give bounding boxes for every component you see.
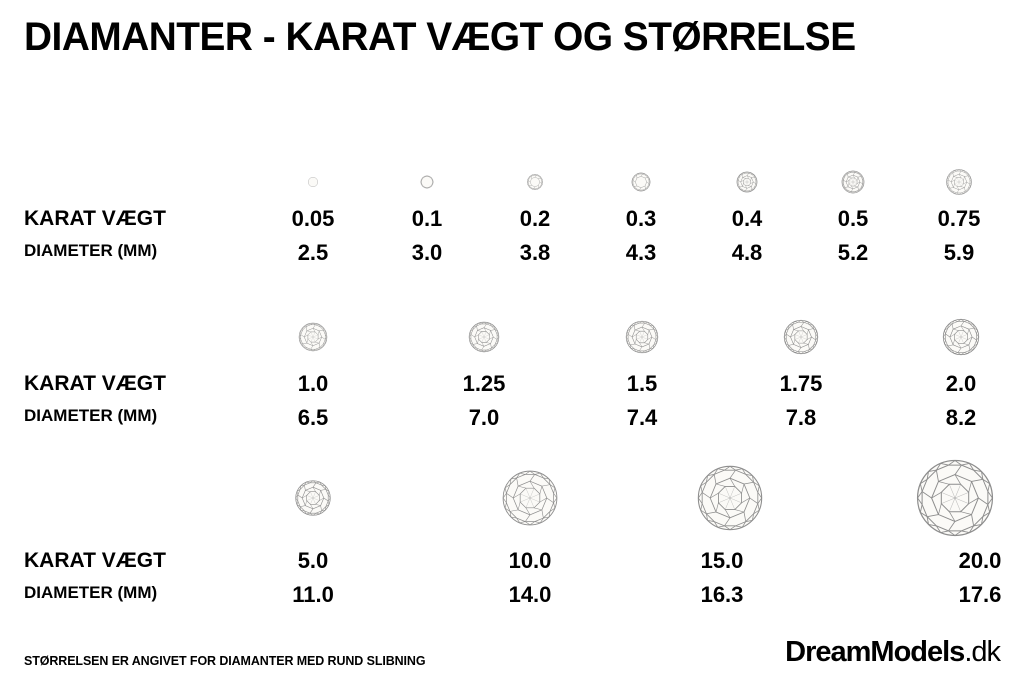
row-label-group: KARAT VÆGT DIAMETER (MM) (24, 550, 166, 601)
diameter-value: 7.0 (463, 407, 506, 429)
value-column: 1.257.0 (463, 373, 506, 429)
karat-weight-value: 0.75 (938, 208, 981, 230)
diamond-icon (946, 169, 972, 195)
row-label-group: KARAT VÆGT DIAMETER (MM) (24, 373, 166, 424)
diameter-value: 7.4 (627, 407, 658, 429)
diamond-icon (632, 173, 651, 192)
diameter-value: 5.9 (938, 242, 981, 264)
karat-weight-value: 0.1 (412, 208, 443, 230)
karat-weight-label: KARAT VÆGT (24, 208, 166, 229)
diamond-icon (626, 321, 659, 354)
karat-weight-value: 5.0 (292, 550, 334, 572)
diameter-value: 16.3 (701, 584, 744, 606)
diameter-value: 17.6 (959, 584, 1002, 606)
diamond-icon (527, 174, 543, 190)
karat-weight-value: 20.0 (959, 550, 1002, 572)
value-column: 2.08.2 (946, 373, 977, 429)
diamond-icon (697, 465, 763, 531)
value-column: 20.017.6 (959, 550, 1002, 606)
diameter-label: DIAMETER (MM) (24, 584, 166, 601)
karat-weight-value: 0.4 (732, 208, 763, 230)
brand-logo: DreamModels.dk (785, 638, 1000, 667)
diameter-label: DIAMETER (MM) (24, 242, 166, 259)
size-row-group-2: KARAT VÆGT DIAMETER (MM) 1.06.51.257.01.… (0, 305, 1024, 430)
karat-weight-value: 1.25 (463, 373, 506, 395)
diameter-value: 3.0 (412, 242, 443, 264)
diameter-value: 11.0 (292, 584, 334, 606)
page-title: DIAMANTER - KARAT VÆGT OG STØRRELSE (24, 16, 856, 58)
value-column: 0.55.2 (838, 208, 869, 264)
diamond-icon (299, 323, 328, 352)
karat-weight-value: 0.3 (626, 208, 657, 230)
footnote: STØRRELSEN ER ANGIVET FOR DIAMANTER MED … (24, 653, 425, 668)
diamond-icon (295, 480, 331, 516)
diameter-value: 6.5 (298, 407, 329, 429)
brand-tld: .dk (964, 636, 1000, 668)
karat-weight-value: 10.0 (509, 550, 552, 572)
karat-weight-label: KARAT VÆGT (24, 373, 166, 394)
diameter-value: 3.8 (520, 242, 551, 264)
karat-weight-value: 1.5 (627, 373, 658, 395)
karat-weight-value: 15.0 (701, 550, 744, 572)
value-column: 0.052.5 (292, 208, 335, 264)
diamond-icon (916, 459, 994, 537)
value-column: 0.13.0 (412, 208, 443, 264)
diamond-icon (469, 322, 500, 353)
diameter-label: DIAMETER (MM) (24, 407, 166, 424)
value-column: 0.34.3 (626, 208, 657, 264)
diameter-value: 2.5 (292, 242, 335, 264)
value-column: 10.014.0 (509, 550, 552, 606)
value-column: 0.44.8 (732, 208, 763, 264)
value-column: 1.57.4 (627, 373, 658, 429)
size-row-group-3: KARAT VÆGT DIAMETER (MM) 5.011.010.014.0… (0, 450, 1024, 610)
value-column: 1.757.8 (780, 373, 823, 429)
diamond-icon (943, 319, 980, 356)
diameter-value: 7.8 (780, 407, 823, 429)
value-column: 1.06.5 (298, 373, 329, 429)
value-column: 5.011.0 (292, 550, 334, 606)
diamond-illustration-strip (0, 160, 1024, 202)
diamond-icon (421, 176, 434, 189)
karat-weight-value: 1.75 (780, 373, 823, 395)
size-row-group-1: KARAT VÆGT DIAMETER (MM) 0.052.50.13.00.… (0, 160, 1024, 270)
diamond-illustration-strip (0, 305, 1024, 365)
value-column: 0.755.9 (938, 208, 981, 264)
diameter-value: 4.8 (732, 242, 763, 264)
diameter-value: 14.0 (509, 584, 552, 606)
diamond-icon (842, 171, 865, 194)
value-column: 0.23.8 (520, 208, 551, 264)
karat-weight-value: 2.0 (946, 373, 977, 395)
value-column: 15.016.3 (701, 550, 744, 606)
diameter-value: 8.2 (946, 407, 977, 429)
diamond-icon (737, 172, 758, 193)
diamond-illustration-strip (0, 450, 1024, 540)
karat-weight-label: KARAT VÆGT (24, 550, 166, 571)
diameter-value: 5.2 (838, 242, 869, 264)
diamond-icon (502, 470, 558, 526)
karat-weight-value: 0.5 (838, 208, 869, 230)
karat-weight-value: 0.05 (292, 208, 335, 230)
diamond-icon (784, 320, 819, 355)
row-label-group: KARAT VÆGT DIAMETER (MM) (24, 208, 166, 259)
brand-name: DreamModels (785, 636, 964, 668)
diamond-size-chart: DIAMANTER - KARAT VÆGT OG STØRRELSE KARA… (0, 0, 1024, 693)
diameter-value: 4.3 (626, 242, 657, 264)
diamond-icon (308, 177, 318, 187)
karat-weight-value: 0.2 (520, 208, 551, 230)
karat-weight-value: 1.0 (298, 373, 329, 395)
